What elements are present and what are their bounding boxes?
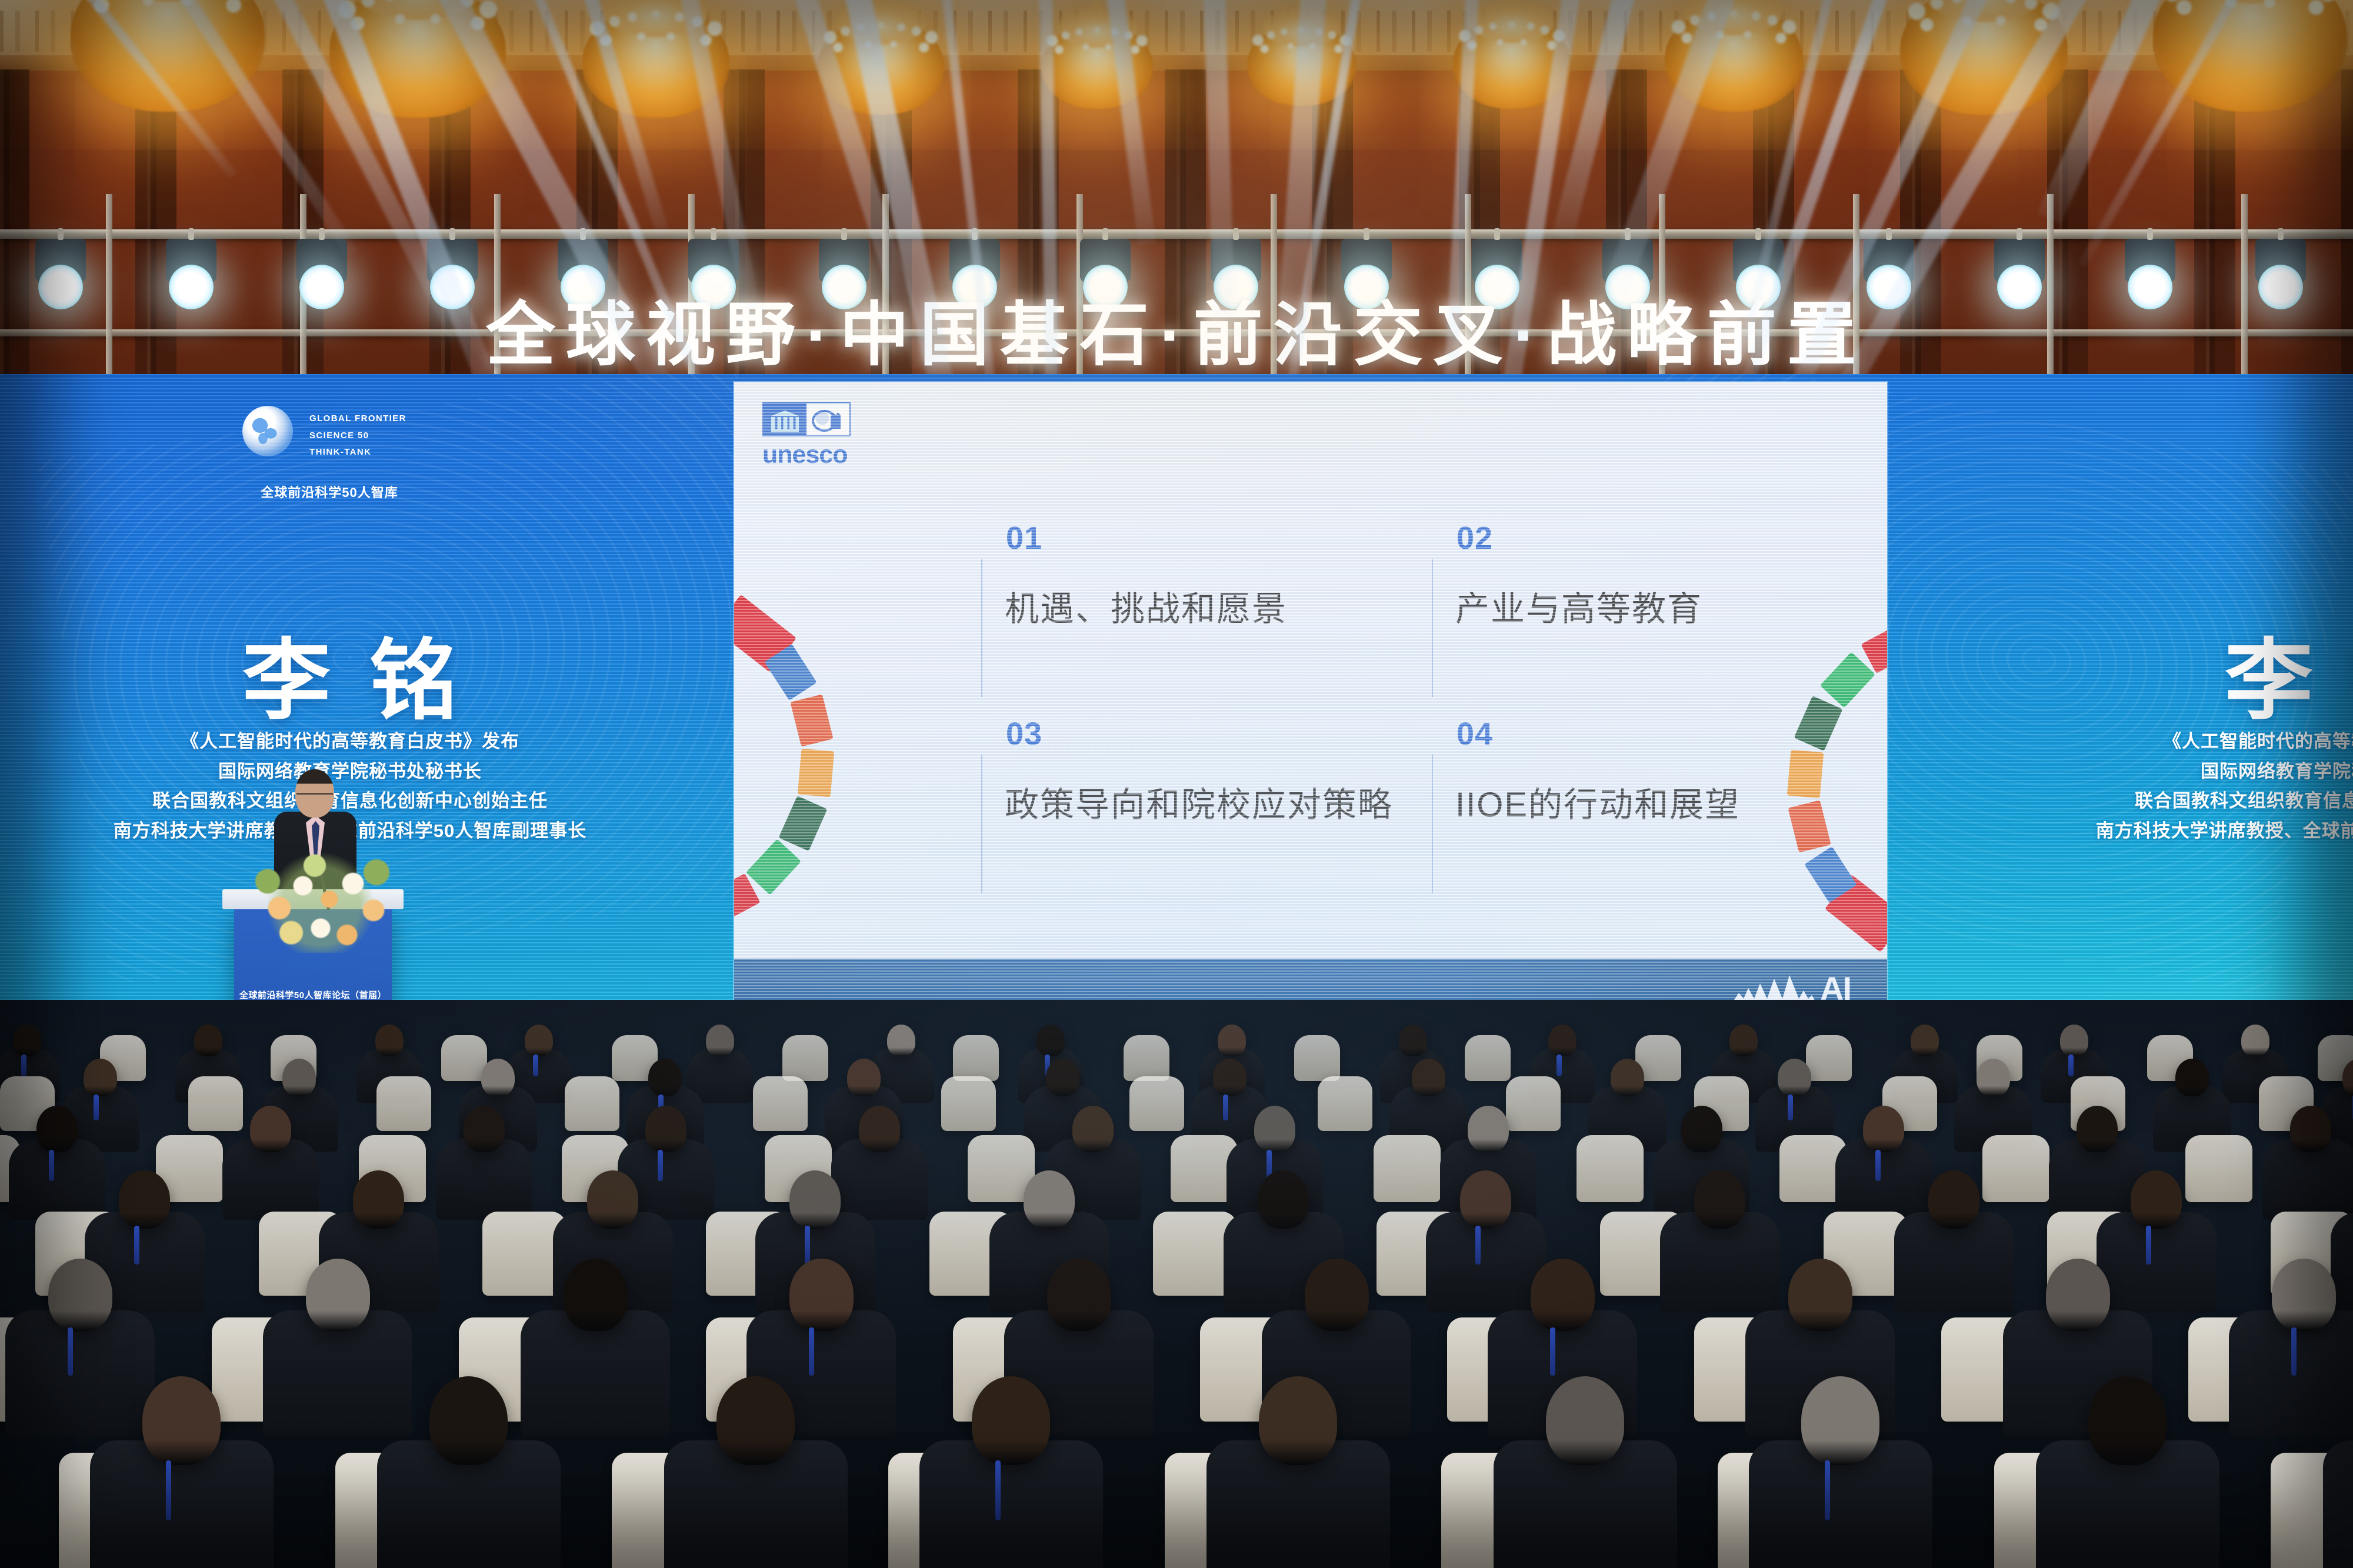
sdg-segment [790, 694, 833, 746]
stage-spotlight [427, 239, 478, 282]
spotlight-hook [841, 228, 847, 240]
audience-lanyard [166, 1460, 171, 1520]
audience-chair [1577, 1135, 1644, 1202]
spotlight-hook [2278, 228, 2284, 240]
speaker-name: 李铭 [0, 609, 700, 737]
speaker-title-right-2: 国际网络教育学院秘书处秘书长 [1982, 757, 2353, 787]
stage-spotlight [558, 239, 608, 282]
audience-chair [1374, 1135, 1441, 1202]
spotlight-hook [2017, 228, 2022, 240]
audience-lanyard [134, 1226, 139, 1265]
chandelier-candles [329, 0, 506, 42]
audience-person-head [847, 1059, 881, 1096]
audience-chair [441, 1035, 487, 1081]
audience-person-head [1213, 1059, 1247, 1096]
sdg-segment [746, 839, 801, 895]
audience-person-head [2241, 1025, 2269, 1056]
audience-chair [1318, 1076, 1372, 1131]
toc-item-04: 04 IIOE的行动和展望 [1432, 718, 1805, 899]
audience-lanyard [1788, 1095, 1793, 1120]
audience-chair [1465, 1035, 1511, 1081]
toc-label-04: IIOE的行动和展望 [1455, 777, 1805, 826]
spotlight-lens [952, 265, 997, 309]
toc-item-02: 02 产业与高等教育 [1432, 522, 1805, 703]
logo-line-2: SCIENCE 50 [309, 428, 406, 445]
toc-label-01: 机遇、挑战和愿景 [1005, 581, 1393, 630]
chandelier [1453, 18, 1571, 109]
toc-number-02: 02 [1457, 522, 1805, 554]
speaker-title-right-3: 联合国教科文组织教育信息化创新中心创始主任 [1982, 786, 2353, 816]
audience-lanyard [1223, 1095, 1228, 1120]
audience-person-head [13, 1025, 41, 1056]
audience-lanyard [1557, 1055, 1562, 1076]
audience-person-head [1928, 1170, 1979, 1229]
audience-person-head [1788, 1259, 1852, 1331]
ai-mountain-logo: AI [1731, 970, 1851, 1003]
audience-person-head [375, 1025, 404, 1056]
spotlight-hook [1886, 228, 1892, 240]
spotlight-hook [319, 228, 325, 240]
audience-person-head [353, 1170, 404, 1229]
spotlight-lens [1344, 265, 1389, 309]
audience-person-head [142, 1376, 221, 1465]
mountain-wave-icon [1731, 973, 1819, 1003]
stage-spotlight [688, 239, 739, 282]
toc-number-03: 03 [1006, 718, 1393, 750]
audience-lanyard [2068, 1055, 2074, 1076]
spotlight-lens [1867, 265, 1911, 309]
stage-spotlight [1211, 239, 1261, 282]
spotlight-lens [1997, 265, 2042, 309]
audience-person-head [648, 1059, 682, 1096]
audience-lanyard [1475, 1226, 1481, 1265]
audience-person-head [2077, 1106, 2118, 1152]
wall-column [0, 69, 29, 388]
audience-person-head [84, 1059, 117, 1096]
audience-person-head [1305, 1259, 1369, 1331]
spotlight-hook [1102, 228, 1108, 240]
spotlight-hook [449, 228, 455, 240]
toc-item-01: 01 机遇、挑战和愿景 [981, 522, 1393, 703]
presentation-slide: unesco 01 机遇、挑战和愿景 02 产业与高等教育 03 政策导向和院校… [734, 382, 1887, 1015]
audience-person-head [859, 1106, 900, 1152]
audience-person-head [1548, 1025, 1577, 1056]
audience-chair [1294, 1035, 1340, 1081]
audience-lanyard [533, 1055, 538, 1076]
chandelier-candles [71, 0, 265, 26]
speaker-identity-panel-right: 李铭 《人工智能时代的高等教育白皮书》发布 国际网络教育学院秘书处秘书长 联合国… [1982, 374, 2353, 1021]
unesco-logo: unesco [762, 402, 851, 468]
chandelier-candles [818, 22, 944, 61]
audience-person-head [2290, 1106, 2331, 1152]
stage-spotlight [949, 239, 1000, 282]
wall-column [724, 69, 765, 388]
chandelier [1900, 0, 2068, 115]
stage-spotlight [1602, 239, 1653, 282]
audience-person-head [306, 1259, 370, 1331]
spotlight-lens [1475, 265, 1519, 309]
chandelier [329, 0, 506, 118]
stage-spotlight [2125, 239, 2175, 282]
audience-person-head [525, 1025, 553, 1056]
spotlight-hook [580, 228, 586, 240]
sdg-segment [734, 595, 796, 672]
chandelier [818, 18, 944, 115]
audience-person-head [1254, 1106, 1295, 1152]
lectern-title-cn: 全球前沿科学50人智库论坛（首届） [234, 989, 392, 1001]
spotlight-hook [1625, 228, 1631, 240]
speaker-title-1: 《人工智能时代的高等教育白皮书》发布 [0, 727, 700, 757]
chandelier [1247, 24, 1356, 106]
spotlight-hook [188, 228, 194, 240]
audience-person-head [1611, 1059, 1644, 1096]
audience-person-head [887, 1025, 915, 1056]
truss-post [1271, 194, 1277, 382]
audience-lanyard [49, 1150, 54, 1181]
audience-person-head [1801, 1376, 1879, 1465]
wall-column [2341, 69, 2353, 388]
audience-person-head [972, 1376, 1050, 1465]
stage-spotlight [1080, 239, 1131, 282]
sdg-segment [734, 873, 760, 924]
spotlight-lens [1736, 265, 1781, 309]
audience-person-head [48, 1259, 112, 1331]
audience-person-head [587, 1170, 638, 1229]
audience-person-head [250, 1106, 291, 1152]
audience-person-head [429, 1376, 508, 1465]
spotlight-lens [1605, 265, 1650, 309]
chandelier [582, 6, 729, 118]
truss-post [1465, 194, 1471, 382]
toc-item-03: 03 政策导向和院校应对策略 [981, 718, 1393, 899]
audience-chair [1129, 1076, 1184, 1131]
temple-icon [764, 403, 806, 435]
audience-person-head [194, 1025, 222, 1056]
wall-column [1312, 69, 1353, 388]
audience-person-head [282, 1059, 316, 1096]
audience-person-head [1047, 1259, 1111, 1331]
audience-chair [2185, 1135, 2252, 1202]
audience-chair [953, 1035, 999, 1081]
chandelier-candles [1665, 10, 1803, 52]
audience-lanyard [1825, 1460, 1830, 1520]
audience-person-head [119, 1170, 170, 1229]
audience-chair [1506, 1076, 1561, 1131]
audience-person-head [2272, 1259, 2336, 1331]
audience-lanyard [1875, 1150, 1881, 1181]
audience-person-head [2175, 1059, 2209, 1096]
speaker-title-right-4: 南方科技大学讲席教授、全球前沿科学50人智库副理事长 [1982, 816, 2353, 846]
audience-lanyard [995, 1460, 1001, 1520]
audience-person-head [2060, 1025, 2088, 1056]
audience-chair [941, 1076, 996, 1131]
floral-arrangement [247, 841, 394, 953]
audience-chair [1124, 1035, 1169, 1081]
logo-line-3: THINK-TANK [309, 444, 406, 461]
logo-chinese-name: 全球前沿科学50人智库 [253, 482, 406, 501]
truss-post [1659, 194, 1665, 382]
spotlight-lens [1214, 265, 1258, 309]
wall-column [135, 69, 176, 388]
audience-person-head [1259, 1376, 1337, 1465]
stage-spotlight [1472, 239, 1522, 282]
audience-person-head [1681, 1106, 1722, 1152]
truss-post [1076, 194, 1083, 382]
stage-spotlight [819, 239, 869, 282]
audience-area [0, 1000, 2353, 1568]
stage-spotlight [1994, 239, 2045, 282]
audience-person-head [1258, 1170, 1309, 1229]
audience-person-head [1546, 1376, 1624, 1465]
sdg-segment [1804, 846, 1857, 903]
audience-lanyard [658, 1150, 663, 1181]
sdg-segment [1819, 652, 1875, 708]
audience-person-head [1531, 1259, 1595, 1331]
audience-lanyard [805, 1226, 810, 1265]
audience-person-head [1024, 1170, 1075, 1229]
chandelier-candles [1453, 21, 1571, 58]
truss-post [1853, 194, 1859, 382]
truss-post [2241, 194, 2248, 382]
toc-label-02: 产业与高等教育 [1455, 581, 1805, 630]
audience-person-body [2323, 1440, 2353, 1568]
audience-lanyard [94, 1095, 99, 1120]
speaker-titles-right: 《人工智能时代的高等教育白皮书》发布 国际网络教育学院秘书处秘书长 联合国教科文… [1982, 727, 2353, 846]
audience-person-head [1977, 1059, 2010, 1096]
chandelier-candles [1247, 27, 1356, 60]
wall-column [871, 69, 912, 388]
audience-person-head [2131, 1170, 2182, 1229]
audience-person-head [1460, 1170, 1511, 1229]
audience-person-head [1218, 1025, 1246, 1056]
stage-spotlight [1864, 239, 1914, 282]
sdg-segment [798, 748, 835, 797]
stage-spotlight [35, 239, 86, 282]
audience-chair [1982, 1135, 2049, 1202]
logo-line-1: GLOBAL FRONTIER [309, 411, 406, 428]
toc-number-01: 01 [1006, 522, 1393, 554]
audience-person-head [1468, 1106, 1509, 1152]
spotlight-hook [711, 228, 716, 240]
audience-person-head [1729, 1025, 1758, 1056]
truss-post [2047, 194, 2054, 382]
spotlight-hook [1755, 228, 1761, 240]
audience-person-head [1778, 1059, 1811, 1096]
spotlight-hook [1364, 228, 1369, 240]
wall-column [1900, 69, 1941, 388]
audience-lanyard [2291, 1327, 2297, 1376]
audience-person-head [789, 1259, 854, 1331]
sdg-segment [1825, 875, 1887, 952]
audience-person-head [706, 1025, 734, 1056]
audience-person-head [1412, 1059, 1445, 1096]
spotlight-hook [1494, 228, 1500, 240]
ai-logo-text: AI [1820, 974, 1851, 1003]
audience-person-head [481, 1059, 515, 1096]
audience-lanyard [2146, 1226, 2151, 1265]
stage-spotlight [1733, 239, 1784, 282]
audience-person-head [2088, 1376, 2167, 1465]
unesco-emblem-icon [762, 402, 851, 436]
spotlight-lens [1083, 265, 1128, 309]
audience-person-head [645, 1106, 686, 1152]
truss-post [882, 194, 889, 382]
globe-icon [242, 406, 293, 456]
globe-people-icon [806, 403, 849, 435]
toc-number-04: 04 [1457, 718, 1805, 750]
audience-person-head [1046, 1059, 1079, 1096]
audience-person-head [1694, 1170, 1745, 1229]
conference-stage-photo: 全球视野·中国基石·前沿交叉·战略前置 GLOBAL FRONTIER SCIE… [0, 0, 2353, 1568]
spotlight-lens [2258, 265, 2303, 309]
audience-chair [188, 1076, 243, 1131]
audience-person-head [464, 1106, 505, 1152]
audience-chair [782, 1035, 828, 1081]
spotlight-lens [299, 265, 344, 309]
audience-lanyard [809, 1327, 814, 1376]
spotlight-lens [169, 265, 214, 309]
audience-chair [376, 1076, 431, 1131]
stage-spotlight [2255, 239, 2306, 282]
audience-person-head [1036, 1025, 1065, 1056]
spotlight-hook [2147, 228, 2153, 240]
sdg-segment [1861, 623, 1887, 673]
spotlight-lens [561, 265, 605, 309]
spotlight-hook [972, 228, 978, 240]
spotlight-hook [58, 228, 64, 240]
speaker-name-right: 李铭 [1982, 609, 2353, 737]
wall-column [1165, 69, 1206, 388]
lighting-truss-upper [0, 229, 2353, 239]
stage-spotlight [1341, 239, 1392, 282]
audience-person-head [1863, 1106, 1904, 1152]
slide-table-of-contents: 01 机遇、挑战和愿景 02 产业与高等教育 03 政策导向和院校应对策略 04… [981, 522, 1805, 899]
think-tank-logo: GLOBAL FRONTIER SCIENCE 50 THINK-TANK 全球… [253, 406, 406, 501]
spotlight-lens [2128, 265, 2172, 309]
chandelier-candles [1041, 27, 1153, 61]
chandelier-candles [2153, 0, 2347, 28]
audience-person-head [716, 1376, 795, 1465]
truss-post [494, 194, 501, 382]
spotlight-lens [38, 265, 83, 309]
toc-label-03: 政策导向和院校应对策略 [1005, 777, 1393, 826]
lighting-truss-lower [0, 329, 2353, 336]
audience-chair [565, 1076, 619, 1131]
unesco-wordmark: unesco [762, 442, 851, 468]
stage-spotlight [166, 239, 216, 282]
audience-person-head [564, 1259, 628, 1331]
audience-person-head [36, 1106, 78, 1152]
sdg-segment [778, 796, 827, 851]
audience-person-head [789, 1170, 841, 1229]
chandelier [1041, 24, 1153, 109]
stage-spotlight [296, 239, 347, 282]
audience-person-head [1911, 1025, 1939, 1056]
spotlight-lens [691, 265, 736, 309]
chandelier [1665, 6, 1803, 112]
speaker-title-right-1: 《人工智能时代的高等教育白皮书》发布 [1982, 727, 2353, 757]
chandelier-candles [582, 11, 729, 55]
audience-lanyard [68, 1327, 73, 1376]
spotlight-lens [822, 265, 866, 309]
truss-post [106, 194, 112, 382]
audience-chair [1806, 1035, 1852, 1081]
audience-chair [753, 1076, 808, 1131]
audience-person-head [2046, 1259, 2110, 1331]
audience-person-head [1399, 1025, 1427, 1056]
think-tank-logo-lines: GLOBAL FRONTIER SCIENCE 50 THINK-TANK [309, 411, 406, 461]
glasses-icon [296, 793, 333, 800]
audience-person-head [1072, 1106, 1114, 1152]
chandelier-candles [1900, 0, 2068, 42]
spotlight-hook [1233, 228, 1239, 240]
sdg-segment [765, 644, 817, 700]
audience-lanyard [1550, 1327, 1555, 1376]
spotlight-lens [430, 265, 475, 309]
audience-lanyard [21, 1055, 26, 1076]
